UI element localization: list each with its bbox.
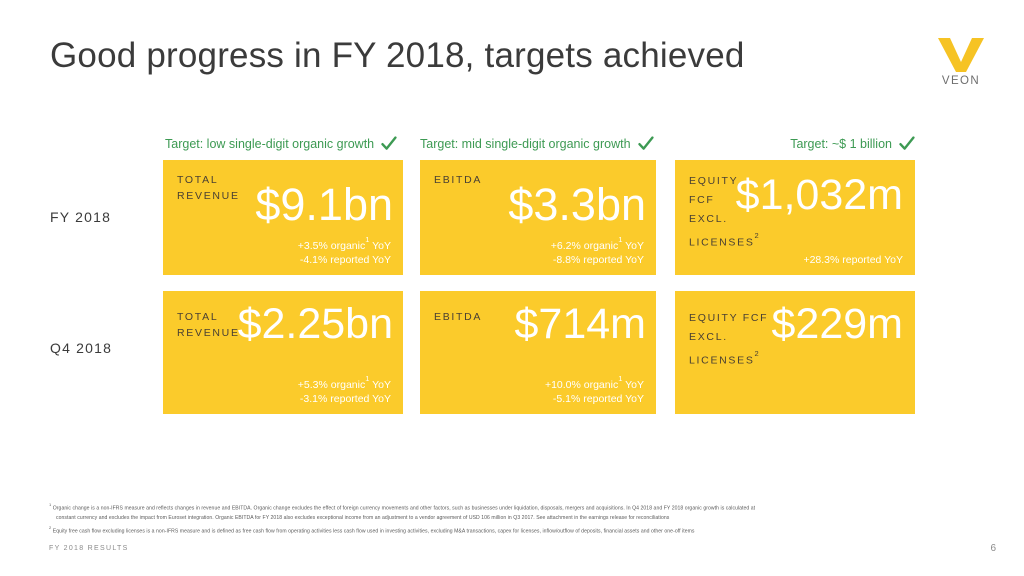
footnote-marker: 1 — [365, 374, 369, 383]
metric-note-reported: -5.1% reported YoY — [553, 393, 644, 405]
footnote-1-line-1: 1 Organic change is a non-IFRS measure a… — [49, 501, 929, 514]
metric-note-reported: -8.8% reported YoY — [553, 254, 644, 266]
metric-value: $2.25bn — [238, 303, 393, 346]
metric-value: $3.3bn — [508, 182, 646, 227]
veon-wordmark: VEON — [931, 75, 991, 87]
footnote-marker: 1 — [365, 235, 369, 244]
footnotes-block: 1 Organic change is a non-IFRS measure a… — [49, 501, 929, 538]
metric-notes: +3.5% organic1 YoY -4.1% reported YoY — [298, 236, 391, 268]
metric-label-line3: EXCL. — [689, 213, 728, 225]
footnote-marker: 2 — [49, 525, 51, 530]
metric-label-line1: EBITDA — [434, 311, 482, 323]
check-icon — [638, 136, 654, 152]
metric-value: $229m — [772, 303, 903, 346]
metric-card-fy-equity-fcf: EQUITY FCF EXCL. LICENSES2 $1,032m +28.3… — [675, 160, 915, 275]
metric-notes: +5.3% organic1 YoY -3.1% reported YoY — [298, 375, 391, 407]
page-number: 6 — [990, 543, 996, 554]
target-equity-fcf-label: Target: ~$ 1 billion — [790, 137, 892, 151]
footnote-2-line-1: 2 Equity free cash flow excluding licens… — [49, 524, 929, 537]
metric-value: $714m — [515, 303, 646, 346]
target-ebitda: Target: mid single-digit organic growth — [420, 136, 654, 152]
metric-label-line3: LICENSES — [689, 355, 755, 367]
metric-note-organic: +10.0% organic1 YoY — [545, 379, 644, 391]
metric-label-line1: EQUITY FCF — [689, 312, 768, 324]
metric-label-line2: REVENUE — [177, 327, 240, 339]
check-icon — [899, 136, 915, 152]
metric-label-line2: EXCL. — [689, 331, 728, 343]
metric-card-fy-ebitda: EBITDA $3.3bn +6.2% organic1 YoY -8.8% r… — [420, 160, 656, 275]
target-ebitda-label: Target: mid single-digit organic growth — [420, 137, 631, 151]
metric-notes: +10.0% organic1 YoY -5.1% reported YoY — [545, 375, 644, 407]
metric-note-organic: +6.2% organic1 YoY — [551, 240, 644, 252]
metric-note-reported: +28.3% reported YoY — [803, 254, 903, 266]
metric-card-q4-ebitda: EBITDA $714m +10.0% organic1 YoY -5.1% r… — [420, 291, 656, 414]
metric-label: TOTAL REVENUE — [177, 309, 240, 341]
metric-label: TOTAL REVENUE — [177, 172, 240, 204]
slide-canvas: Good progress in FY 2018, targets achiev… — [0, 0, 1024, 576]
footer-label: FY 2018 RESULTS — [49, 545, 129, 552]
metric-label-line1: EBITDA — [434, 174, 482, 186]
metric-label: EQUITY FCF EXCL. LICENSES2 — [689, 309, 768, 371]
footnote-1-line-2: constant currency and excludes the impac… — [49, 514, 929, 524]
footnote-marker: 2 — [755, 349, 759, 358]
metric-label-line1: TOTAL — [177, 311, 218, 323]
veon-logo: VEON — [931, 38, 991, 96]
metric-label-line2: FCF — [689, 194, 715, 206]
page-title: Good progress in FY 2018, targets achiev… — [50, 36, 745, 76]
metric-value: $9.1bn — [255, 182, 393, 227]
metric-card-q4-total-revenue: TOTAL REVENUE $2.25bn +5.3% organic1 YoY… — [163, 291, 403, 414]
metric-notes: +6.2% organic1 YoY -8.8% reported YoY — [551, 236, 644, 268]
metric-note-organic: +3.5% organic1 YoY — [298, 240, 391, 252]
metric-card-fy-total-revenue: TOTAL REVENUE $9.1bn +3.5% organic1 YoY … — [163, 160, 403, 275]
metric-label: EBITDA — [434, 172, 482, 188]
row-label-q4-2018: Q4 2018 — [50, 340, 112, 356]
footnote-marker: 2 — [755, 231, 759, 240]
footnote-marker: 1 — [618, 374, 622, 383]
metric-card-q4-equity-fcf: EQUITY FCF EXCL. LICENSES2 $229m — [675, 291, 915, 414]
metric-note-reported: -4.1% reported YoY — [300, 254, 391, 266]
footnote-marker: 1 — [618, 235, 622, 244]
check-icon — [381, 136, 397, 152]
metric-label-line2: REVENUE — [177, 190, 240, 202]
veon-v-icon — [938, 38, 984, 72]
metric-note-reported: -3.1% reported YoY — [300, 393, 391, 405]
row-label-fy-2018: FY 2018 — [50, 209, 111, 225]
metric-value: $1,032m — [736, 174, 903, 217]
metric-label-line1: EQUITY — [689, 175, 738, 187]
metric-label-line4: LICENSES — [689, 237, 755, 249]
target-equity-fcf: Target: ~$ 1 billion — [675, 136, 915, 152]
metric-note-organic: +5.3% organic1 YoY — [298, 379, 391, 391]
target-revenue: Target: low single-digit organic growth — [165, 136, 397, 152]
metric-notes: +28.3% reported YoY — [803, 253, 903, 267]
footnote-marker: 1 — [49, 502, 51, 507]
target-revenue-label: Target: low single-digit organic growth — [165, 137, 374, 151]
metric-label: EBITDA — [434, 309, 482, 325]
metric-label-line1: TOTAL — [177, 174, 218, 186]
